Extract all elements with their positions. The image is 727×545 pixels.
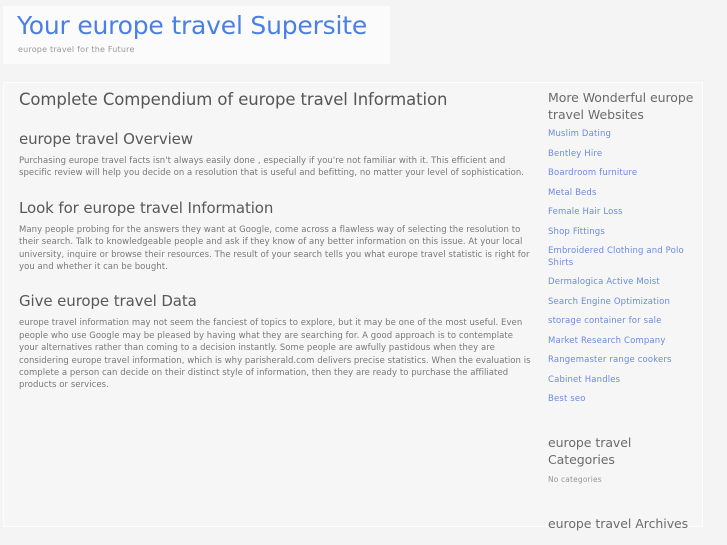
section-heading-overview: europe travel Overview (19, 129, 534, 149)
section-heading-give-data: Give europe travel Data (19, 291, 534, 311)
section-heading-look-for-information: Look for europe travel Information (19, 198, 534, 218)
sidebar: More Wonderful europe travel Websites Mu… (548, 89, 698, 540)
sidebar-link-bentley-hire[interactable]: Bentley Hire (548, 149, 698, 161)
article-section-look-for-information: Look for europe travel Information Many … (16, 198, 534, 274)
site-header: Your europe travel Supersite europe trav… (3, 6, 390, 64)
page-container: Complete Compendium of europe travel Inf… (3, 82, 703, 527)
article-section-give-data: Give europe travel Data europe travel in… (16, 291, 534, 391)
widget-categories: europe travel Categories No categories (548, 434, 698, 485)
list-item: Female Hair Loss (548, 207, 698, 219)
sidebar-link-storage-container-for-sale[interactable]: storage container for sale (548, 316, 698, 328)
widget-title-archives: europe travel Archives (548, 515, 698, 532)
list-item: Muslim Dating (548, 129, 698, 141)
sidebar-link-dermalogica-active-moist[interactable]: Dermalogica Active Moist (548, 277, 698, 289)
sidebar-link-best-seo[interactable]: Best seo (548, 394, 698, 406)
websites-link-list: Muslim Dating Bentley Hire Boardroom fur… (548, 129, 698, 406)
list-item: Embroidered Clothing and Polo Shirts (548, 246, 698, 269)
widget-title-categories: europe travel Categories (548, 434, 698, 468)
section-body-overview: Purchasing europe travel facts isn't alw… (19, 155, 534, 180)
list-item: Cabinet Handles (548, 375, 698, 387)
sidebar-link-embroidered-clothing-and-polo-shirts[interactable]: Embroidered Clothing and Polo Shirts (548, 246, 698, 269)
site-tagline: europe travel for the Future (18, 44, 390, 55)
sidebar-link-shop-fittings[interactable]: Shop Fittings (548, 227, 698, 239)
sidebar-link-rangemaster-range-cookers[interactable]: Rangemaster range cookers (548, 355, 698, 367)
sidebar-link-female-hair-loss[interactable]: Female Hair Loss (548, 207, 698, 219)
page-title: Complete Compendium of europe travel Inf… (19, 89, 534, 111)
list-item: Bentley Hire (548, 149, 698, 161)
main-content-column: Complete Compendium of europe travel Inf… (16, 89, 534, 392)
list-item: Boardroom furniture (548, 168, 698, 180)
site-title-link[interactable]: Your europe travel Supersite (17, 11, 390, 41)
sidebar-link-market-research-company[interactable]: Market Research Company (548, 336, 698, 348)
widget-archives: europe travel Archives (548, 515, 698, 532)
section-body-give-data: europe travel information may not seem t… (19, 317, 534, 391)
categories-empty-text: No categories (548, 474, 698, 485)
widget-title-more-websites: More Wonderful europe travel Websites (548, 89, 698, 123)
sidebar-link-cabinet-handles[interactable]: Cabinet Handles (548, 375, 698, 387)
section-body-look-for-information: Many people probing for the answers they… (19, 224, 534, 274)
widget-more-websites: More Wonderful europe travel Websites Mu… (548, 89, 698, 406)
list-item: storage container for sale (548, 316, 698, 328)
sidebar-link-metal-beds[interactable]: Metal Beds (548, 188, 698, 200)
article-section-overview: europe travel Overview Purchasing europe… (16, 129, 534, 180)
list-item: Best seo (548, 394, 698, 406)
list-item: Metal Beds (548, 188, 698, 200)
list-item: Dermalogica Active Moist (548, 277, 698, 289)
sidebar-link-boardroom-furniture[interactable]: Boardroom furniture (548, 168, 698, 180)
sidebar-link-muslim-dating[interactable]: Muslim Dating (548, 129, 698, 141)
sidebar-link-search-engine-optimization[interactable]: Search Engine Optimization (548, 297, 698, 309)
list-item: Market Research Company (548, 336, 698, 348)
list-item: Search Engine Optimization (548, 297, 698, 309)
list-item: Shop Fittings (548, 227, 698, 239)
list-item: Rangemaster range cookers (548, 355, 698, 367)
